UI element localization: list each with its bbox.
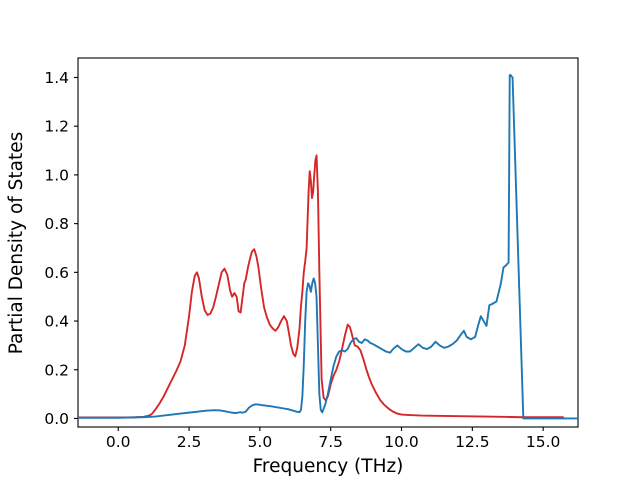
y-tick-label: 1.4 — [44, 69, 69, 87]
data-series-group — [78, 75, 578, 418]
y-tick-label: 0.2 — [44, 361, 69, 379]
y-tick-label: 0.6 — [44, 264, 69, 282]
axes-frame — [78, 58, 578, 427]
partial-dos-blue — [78, 75, 578, 418]
y-axis-title: Partial Density of States — [6, 132, 27, 355]
x-tick-label: 15.0 — [526, 433, 561, 451]
y-tick-label: 0.0 — [44, 410, 69, 428]
x-tick-label: 10.0 — [384, 433, 419, 451]
figure-canvas: 0.02.55.07.510.012.515.0 0.00.20.40.60.8… — [0, 0, 640, 480]
y-tick-label: 1.2 — [44, 118, 69, 136]
x-tick-label: 0.0 — [106, 433, 131, 451]
y-tick-label: 0.8 — [44, 215, 69, 233]
partial-density-of-states-chart: 0.02.55.07.510.012.515.0 0.00.20.40.60.8… — [0, 0, 640, 480]
x-tick-label: 2.5 — [177, 433, 202, 451]
y-tick-label: 1.0 — [44, 166, 69, 184]
y-axis-ticks: 0.00.20.40.60.81.01.21.4 — [44, 69, 78, 428]
x-tick-label: 12.5 — [455, 433, 490, 451]
x-axis-ticks: 0.02.55.07.510.012.515.0 — [106, 427, 561, 451]
x-tick-label: 7.5 — [318, 433, 343, 451]
y-tick-label: 0.4 — [44, 313, 69, 331]
x-tick-label: 5.0 — [248, 433, 273, 451]
x-axis-title: Frequency (THz) — [253, 456, 404, 477]
partial-dos-red — [78, 155, 563, 417]
